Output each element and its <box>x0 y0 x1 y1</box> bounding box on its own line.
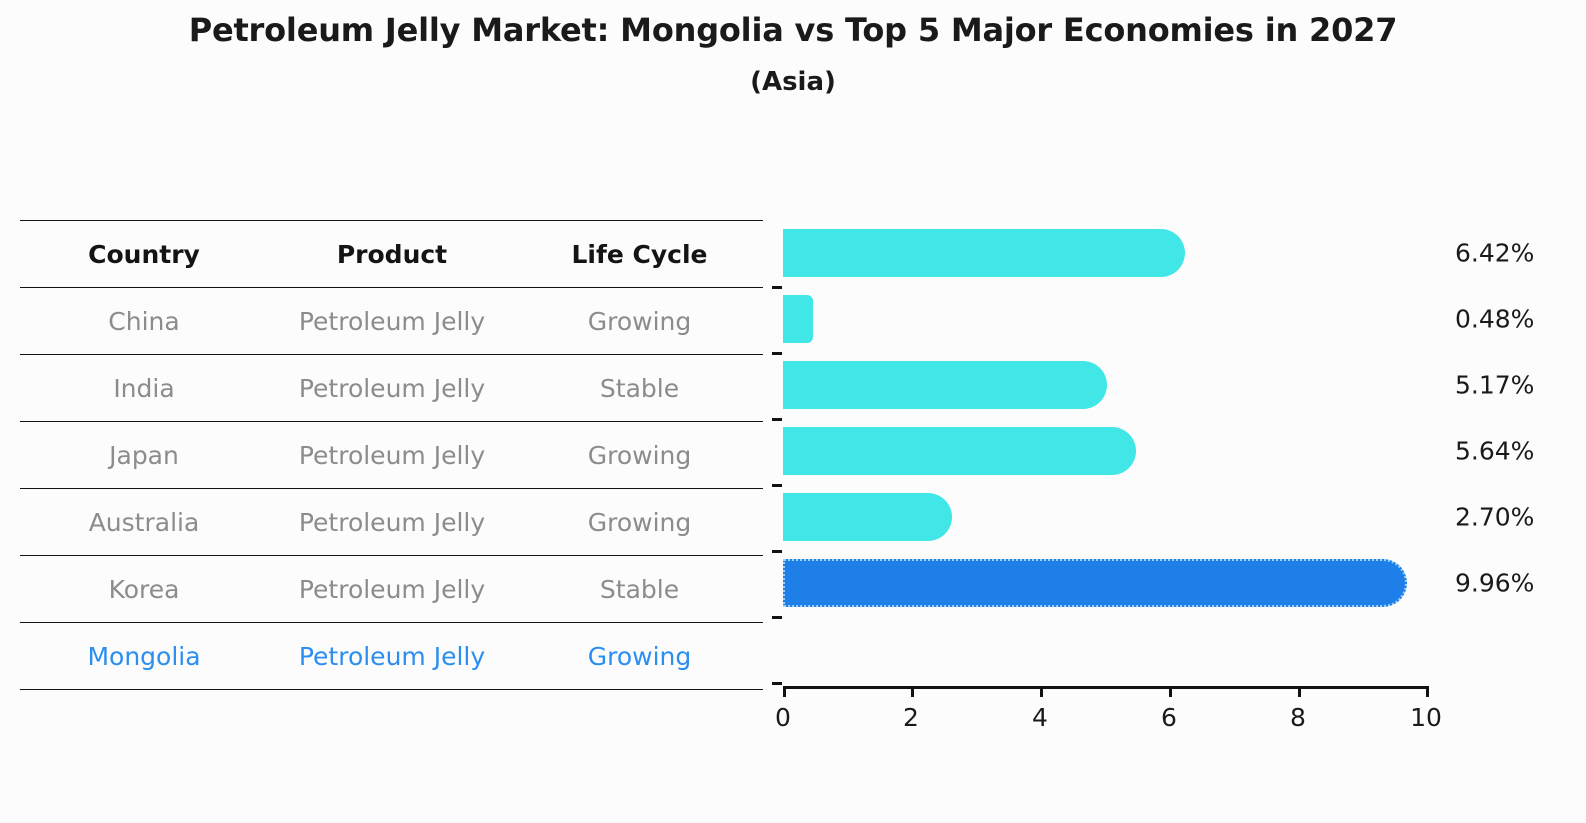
table-row: Australia Petroleum Jelly Growing <box>20 489 763 556</box>
y-axis-tick <box>772 682 782 685</box>
cell-life-cycle: Growing <box>516 288 763 355</box>
x-axis-tick <box>911 686 914 697</box>
cell-life-cycle: Stable <box>516 355 763 422</box>
cell-country: India <box>20 355 268 422</box>
x-axis-tick-label: 6 <box>1161 703 1177 732</box>
title-block: Petroleum Jelly Market: Mongolia vs Top … <box>0 10 1586 99</box>
cell-product: Petroleum Jelly <box>268 288 516 355</box>
x-axis-tick-label: 2 <box>903 703 919 732</box>
bar-mongolia <box>783 559 1407 607</box>
cell-country: Australia <box>20 489 268 556</box>
bar-value-india: 0.48% <box>1455 305 1534 334</box>
column-header-product: Product <box>268 221 516 288</box>
bar-row-china: 6.42% <box>783 220 1428 286</box>
cell-product: Petroleum Jelly <box>268 623 516 690</box>
bar-chart-plot: 6.42% 0.48% 5.17% 5.64% 2.70% 9.96% <box>783 220 1428 686</box>
x-axis: 0 2 4 6 8 10 <box>783 686 1428 746</box>
table-row: Korea Petroleum Jelly Stable <box>20 556 763 623</box>
cell-life-cycle: Stable <box>516 556 763 623</box>
bar-india <box>783 295 813 343</box>
table-row: India Petroleum Jelly Stable <box>20 355 763 422</box>
table-header-row: Country Product Life Cycle <box>20 221 763 288</box>
cell-life-cycle: Growing <box>516 623 763 690</box>
chart-figure: Petroleum Jelly Market: Mongolia vs Top … <box>0 0 1586 823</box>
x-axis-line <box>783 686 1428 689</box>
bar-korea <box>783 493 952 541</box>
bar-china <box>783 229 1185 277</box>
bar-value-mongolia: 9.96% <box>1455 569 1534 598</box>
bar-row-australia: 5.64% <box>783 418 1428 484</box>
bar-value-china: 6.42% <box>1455 239 1534 268</box>
bar-row-korea: 2.70% <box>783 484 1428 550</box>
y-axis-tick <box>772 418 782 421</box>
bar-row-mongolia: 9.96% <box>783 550 1428 616</box>
bar-value-australia: 5.64% <box>1455 437 1534 466</box>
bar-australia <box>783 427 1136 475</box>
cell-country: Japan <box>20 422 268 489</box>
page-title: Petroleum Jelly Market: Mongolia vs Top … <box>0 10 1586 50</box>
cell-country: Mongolia <box>20 623 268 690</box>
x-axis-tick-label: 10 <box>1410 703 1442 732</box>
x-axis-tick-label: 4 <box>1032 703 1048 732</box>
cell-country: China <box>20 288 268 355</box>
bar-japan <box>783 361 1107 409</box>
table-row-highlighted: Mongolia Petroleum Jelly Growing <box>20 623 763 690</box>
column-header-country: Country <box>20 221 268 288</box>
table-row: China Petroleum Jelly Growing <box>20 288 763 355</box>
bar-row-japan: 5.17% <box>783 352 1428 418</box>
x-axis-tick-label: 0 <box>775 703 791 732</box>
cell-country: Korea <box>20 556 268 623</box>
x-axis-tick <box>783 686 786 697</box>
y-axis-tick <box>772 286 782 289</box>
y-axis-tick <box>772 484 782 487</box>
cell-life-cycle: Growing <box>516 422 763 489</box>
x-axis-tick-label: 8 <box>1290 703 1306 732</box>
chart-subtitle: (Asia) <box>0 66 1586 99</box>
x-axis-tick <box>1040 686 1043 697</box>
cell-product: Petroleum Jelly <box>268 355 516 422</box>
x-axis-tick <box>1298 686 1301 697</box>
cell-product: Petroleum Jelly <box>268 422 516 489</box>
x-axis-tick <box>1169 686 1172 697</box>
country-table: Country Product Life Cycle China Petrole… <box>20 220 763 690</box>
y-axis-tick <box>772 352 782 355</box>
x-axis-tick <box>1426 686 1429 697</box>
column-header-life-cycle: Life Cycle <box>516 221 763 288</box>
bar-value-korea: 2.70% <box>1455 503 1534 532</box>
cell-product: Petroleum Jelly <box>268 556 516 623</box>
cell-product: Petroleum Jelly <box>268 489 516 556</box>
cell-life-cycle: Growing <box>516 489 763 556</box>
bar-row-india: 0.48% <box>783 286 1428 352</box>
table-row: Japan Petroleum Jelly Growing <box>20 422 763 489</box>
y-axis-tick <box>772 550 782 553</box>
y-axis-tick <box>772 616 782 619</box>
bar-value-japan: 5.17% <box>1455 371 1534 400</box>
